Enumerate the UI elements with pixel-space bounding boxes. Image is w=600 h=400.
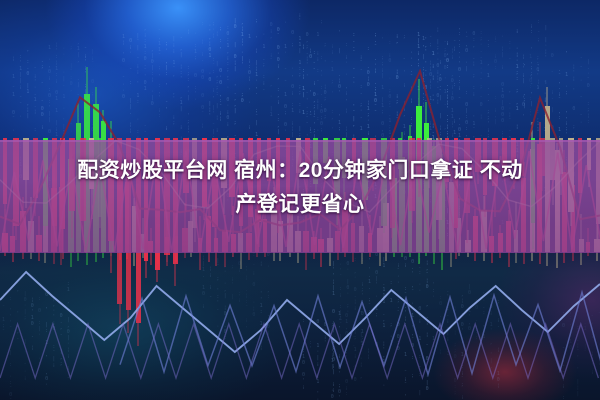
headline-text: 配资炒股平台网 宿州：20分钟家门口拿证 不动 产登记更省心 [0, 154, 600, 222]
headline-line-2: 产登记更省心 [0, 188, 600, 222]
stock-banner-image: ¦ 1 ˉ 1 0 ˉ · : ' 1 | | ¡ ˉ ˉ · ¦ ; ¦ 1 … [0, 0, 600, 400]
band-top-edge [0, 140, 600, 142]
trend-line-bottom-spikes [0, 324, 598, 378]
headline-line-1: 配资炒股平台网 宿州：20分钟家门口拿证 不动 [0, 154, 600, 188]
trend-line-lower-blue [0, 272, 600, 352]
trend-line-lower-blue-2 [120, 292, 600, 374]
